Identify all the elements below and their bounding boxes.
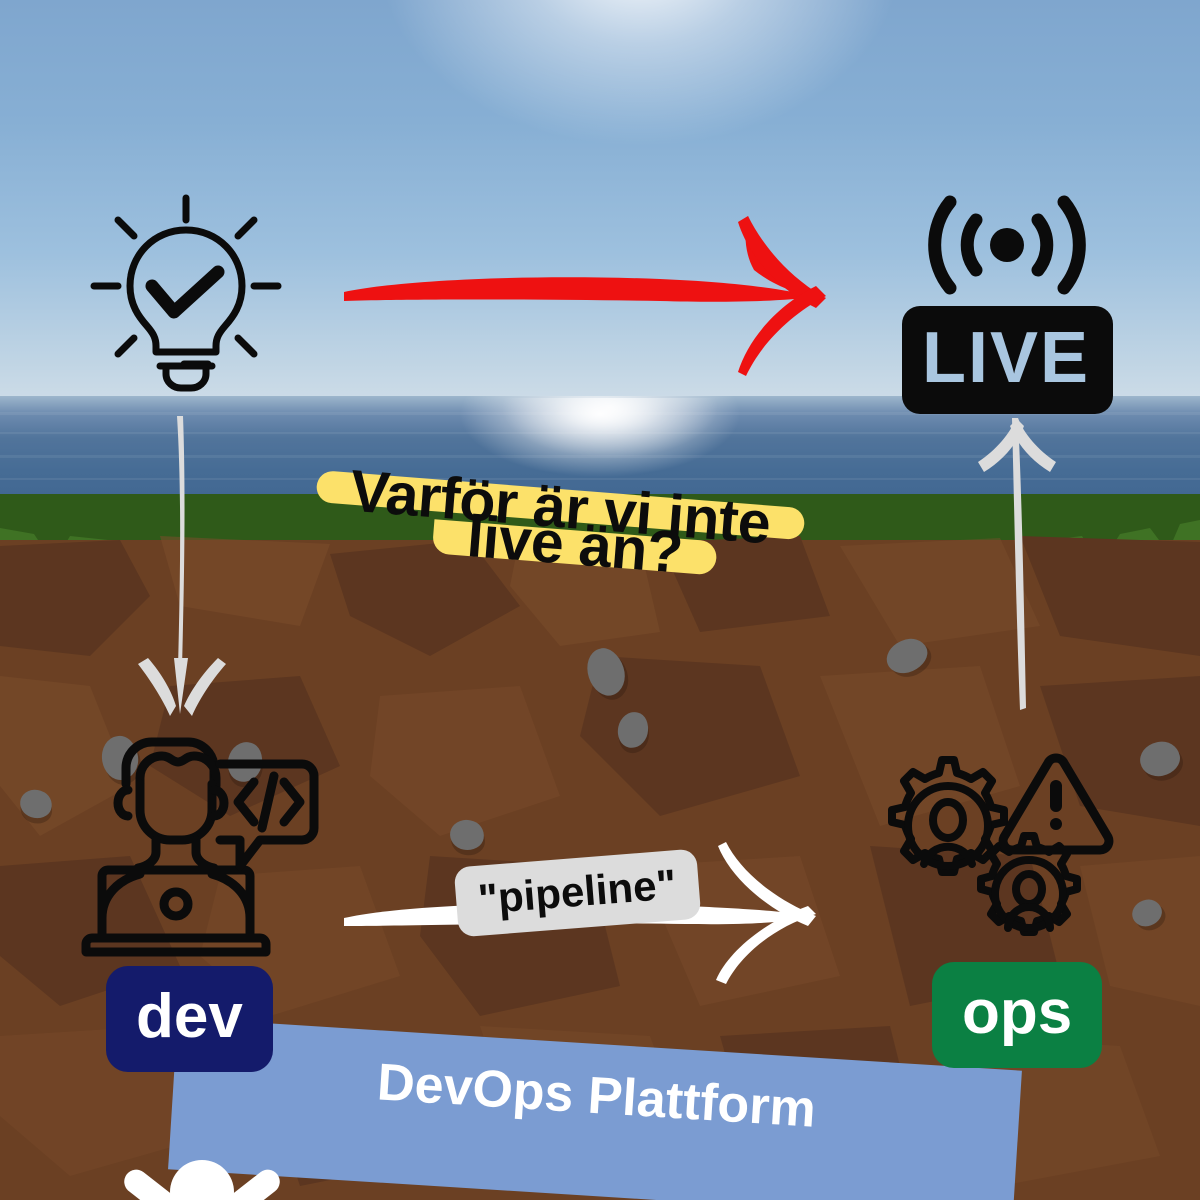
white-idea-to-dev-arrow (120, 406, 250, 726)
illustration-canvas: LIVE (0, 0, 1200, 1200)
devops-platform-label: DevOps Plattform (375, 1052, 817, 1139)
dev-badge-label: dev (136, 982, 243, 1051)
live-badge-label: LIVE (922, 318, 1090, 398)
lightbulb-check-icon (80, 186, 292, 398)
ops-gears-warning-icon (876, 752, 1116, 968)
celebrating-person-icon (112, 1150, 292, 1200)
ops-badge[interactable]: ops (932, 962, 1102, 1068)
live-broadcast-icon: LIVE (900, 190, 1115, 415)
red-idea-to-live-arrow (330, 200, 850, 390)
developer-laptop-icon (68, 720, 328, 970)
white-ops-to-live-arrow (952, 408, 1082, 720)
dev-badge[interactable]: dev (106, 966, 273, 1072)
question-line-2: live än? (432, 519, 717, 575)
ops-badge-label: ops (962, 978, 1072, 1047)
